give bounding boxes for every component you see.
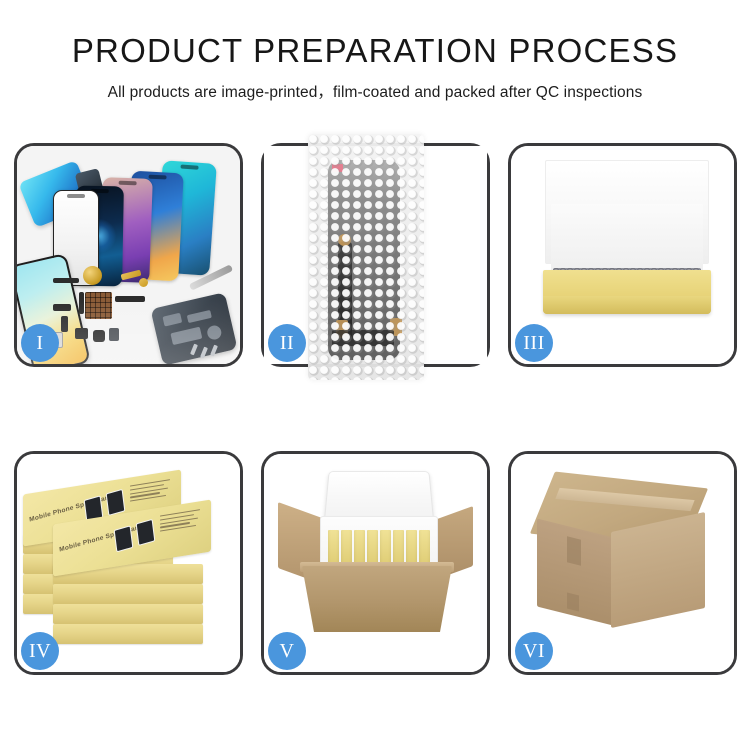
step-badge-5: V (268, 632, 306, 670)
bubble-texture (308, 134, 424, 380)
step-badge-2: II (268, 324, 306, 362)
antenna-strip-part (79, 292, 84, 314)
step-panel-1[interactable]: I (14, 143, 243, 367)
product-preparation-infographic: PRODUCT PREPARATION PROCESS All products… (0, 0, 750, 750)
button-part (93, 330, 105, 342)
foam-sheet (551, 204, 703, 272)
box-spec-lines-rear (130, 479, 174, 505)
step-panel-5[interactable]: V (261, 451, 490, 675)
kraft-box-front-flap (543, 296, 711, 314)
connector-part-b (61, 316, 68, 332)
step-badge-4: IV (21, 632, 59, 670)
taptic-part (109, 328, 119, 341)
box-spec-lines-front (160, 509, 204, 535)
chip-grid-part (85, 292, 112, 319)
carton-seam-lower (567, 593, 579, 612)
step-panel-6[interactable]: VI (508, 451, 737, 675)
carton-right-face (611, 512, 705, 628)
process-steps-grid: I II (14, 143, 736, 675)
step-panel-3[interactable]: III (508, 143, 737, 367)
vibration-motor-part (83, 266, 102, 285)
camera-module-part (75, 328, 88, 339)
page-subtitle: All products are image-printed，film-coat… (0, 80, 750, 102)
flex-cable-part-b (115, 296, 145, 302)
step-badge-3: III (515, 324, 553, 362)
bubble-wrap-bag (308, 134, 424, 380)
step-badge-1: I (21, 324, 59, 362)
speaker-mesh-part (53, 278, 79, 283)
carton-front-wall (302, 566, 452, 632)
step-panel-2[interactable]: II (261, 143, 490, 367)
header: PRODUCT PREPARATION PROCESS All products… (0, 0, 750, 102)
home-button-part (139, 278, 148, 287)
step-panel-4[interactable]: Mobile Phone Spare Parts (14, 451, 243, 675)
carton-seam-upper (567, 536, 581, 565)
connector-part-a (53, 304, 71, 311)
step-badge-6: VI (515, 632, 553, 670)
screws-group (192, 344, 226, 360)
page-title: PRODUCT PREPARATION PROCESS (0, 33, 750, 69)
